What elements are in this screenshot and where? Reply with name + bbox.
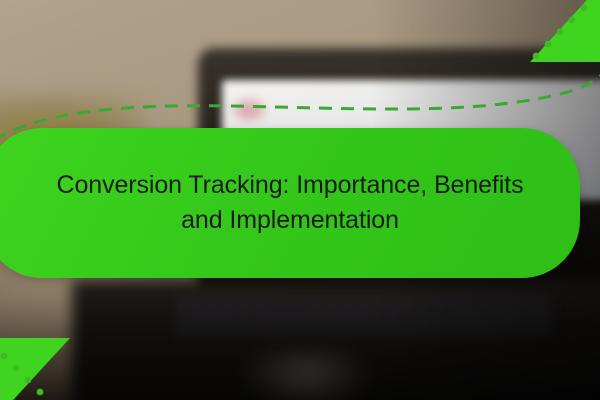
bottom-left-wedge-decoration (0, 338, 78, 400)
title-banner: Conversion Tracking: Importance, Benefit… (0, 128, 580, 278)
page-title: Conversion Tracking: Importance, Benefit… (0, 168, 567, 239)
top-right-wedge-decoration (522, 0, 600, 62)
featured-image: Conversion Tracking: Importance, Benefit… (0, 0, 600, 400)
